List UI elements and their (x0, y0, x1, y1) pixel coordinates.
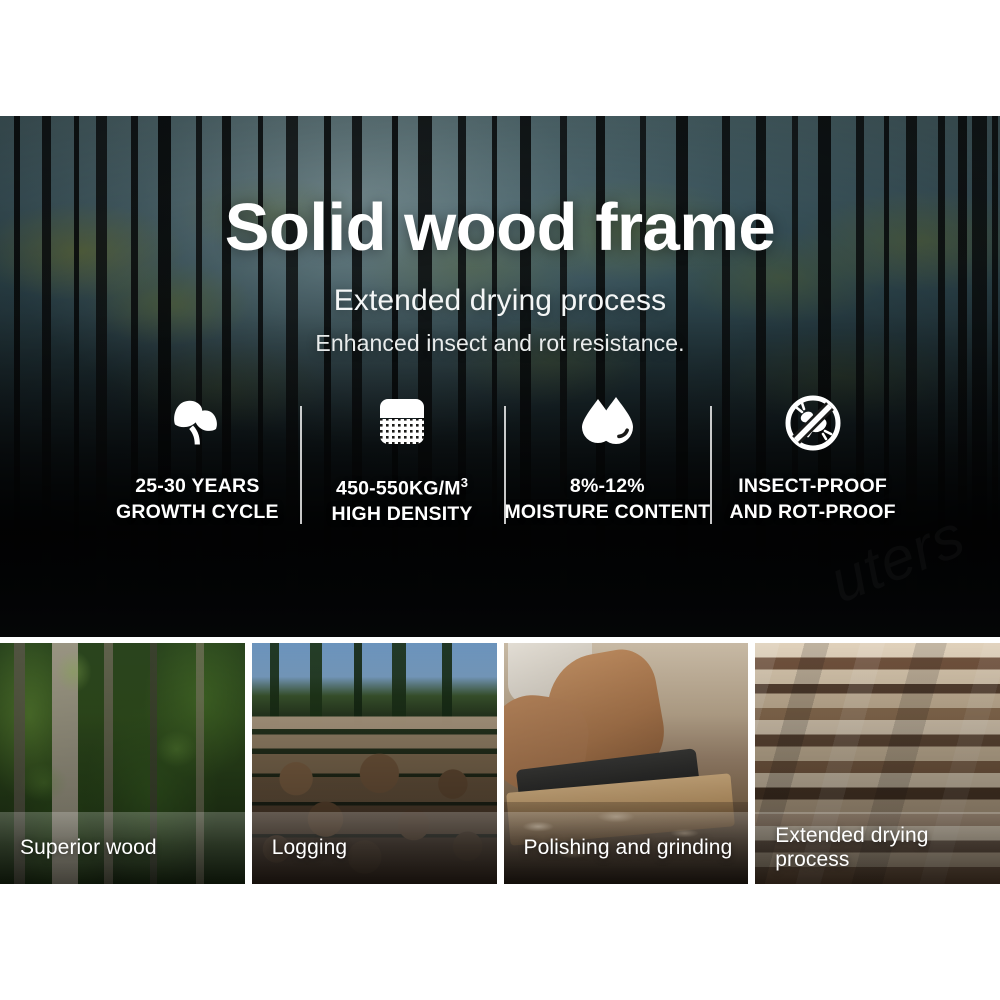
feature-line2: HIGH DENSITY (332, 503, 473, 525)
feature-growth-cycle: 25-30 YEARS GROWTH CYCLE (95, 394, 300, 525)
feature-line2: MOISTURE CONTENT (504, 501, 710, 523)
feature-line1: 8%-12% (570, 475, 645, 497)
thumbnail-polishing-and-grinding[interactable]: Polishing and grinding (504, 643, 749, 884)
feature-line2: GROWTH CYCLE (116, 501, 279, 523)
feature-moisture-content: 8%-12% MOISTURE CONTENT (504, 394, 710, 525)
feature-spec-row: 25-30 YEARS GROWTH CYCLE (95, 394, 915, 544)
feature-label-high-density: 450-550KG/M3 HIGH DENSITY (332, 474, 473, 528)
thumbnail-caption: Logging (252, 812, 497, 884)
density-block-icon (372, 394, 432, 452)
hero-banner: uters Solid wood frame Extended drying p… (0, 116, 1000, 637)
feature-line2: AND ROT-PROOF (730, 501, 896, 523)
insect-proof-icon (785, 394, 841, 452)
page-title: Solid wood frame (225, 194, 775, 261)
thumbnail-caption: Polishing and grinding (504, 812, 749, 884)
feature-line1: 450-550KG/M (336, 478, 461, 500)
water-droplets-icon (576, 394, 638, 452)
feature-line1-superscript: 3 (461, 475, 468, 490)
feature-high-density: 450-550KG/M3 HIGH DENSITY (300, 394, 505, 528)
feature-label-moisture-content: 8%-12% MOISTURE CONTENT (504, 474, 710, 525)
infographic-page: uters Solid wood frame Extended drying p… (0, 0, 1000, 1000)
feature-label-growth-cycle: 25-30 YEARS GROWTH CYCLE (116, 474, 279, 525)
feature-label-insect-proof: INSECT-PROOF AND ROT-PROOF (730, 474, 896, 525)
leaf-sprout-icon (168, 394, 226, 452)
hero-subtitle: Extended drying process (334, 284, 667, 318)
thumbnail-superior-wood[interactable]: Superior wood (0, 643, 245, 884)
hero-tagline: Enhanced insect and rot resistance. (315, 330, 684, 357)
thumbnail-caption: Superior wood (0, 812, 245, 884)
thumbnail-logging[interactable]: Logging (252, 643, 497, 884)
process-thumbnail-strip: Superior wood Logging Polishing and grin… (0, 643, 1000, 884)
feature-line1: 25-30 YEARS (135, 475, 259, 497)
feature-line1: INSECT-PROOF (738, 475, 887, 497)
thumbnail-extended-drying-process[interactable]: Extended drying process (755, 643, 1000, 884)
feature-insect-proof: INSECT-PROOF AND ROT-PROOF (710, 394, 915, 525)
hero-content: Solid wood frame Extended drying process… (0, 116, 1000, 637)
thumbnail-caption: Extended drying process (755, 812, 1000, 884)
